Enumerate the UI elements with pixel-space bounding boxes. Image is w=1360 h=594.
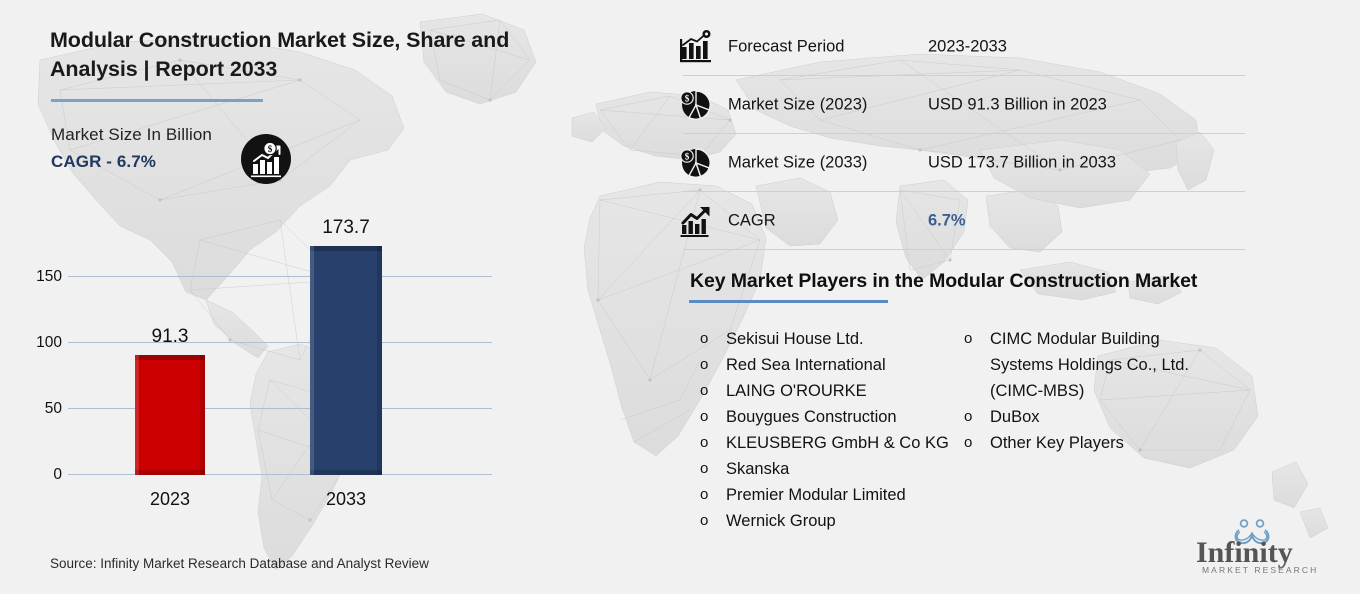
list-bullet: o [700,326,708,352]
gridline-150 [68,276,492,277]
stat-label: Forecast Period [728,38,844,57]
list-bullet: o [700,430,708,456]
list-item: o DuBox [952,404,1242,430]
list-item-label: KLEUSBERG GmbH & Co KG [726,434,949,452]
list-item-label: Red Sea International [726,356,886,374]
bar-bottom-shade [135,470,205,475]
bar-left-shade [310,246,314,475]
list-bullet: o [964,430,972,456]
bar-left-shade [135,355,139,475]
bar-category-2023: 2023 [100,489,240,510]
players-underline [689,300,888,303]
bar-category-2033: 2033 [276,489,416,510]
players-column-right: o CIMC Modular Building Systems Holdings… [952,326,1242,456]
list-item-label: LAING O'ROURKE [726,382,867,400]
list-item: o Sekisui House Ltd. [688,326,988,352]
list-item: o Red Sea International [688,352,988,378]
stat-value: 2023-2033 [928,38,1007,57]
pie-chart-dollar-icon: $ [678,87,714,123]
stat-divider [683,249,1245,250]
list-item: o Bouygues Construction [688,404,988,430]
pie-chart-dollar-icon: $ [678,145,714,181]
list-item-label: Bouygues Construction [726,408,897,426]
stat-label: CAGR [728,212,776,231]
bar-bottom-shade [310,470,382,475]
list-bullet: o [700,352,708,378]
list-item-continuation: Systems Holdings Co., Ltd. [952,352,1242,378]
gridline-0 [68,474,492,475]
list-bullet: o [700,456,708,482]
y-axis-tick-label: 150 [4,268,62,286]
bar-top-shade [310,246,382,251]
bar-right-shade [377,246,382,475]
list-item-label: Skanska [726,460,789,478]
list-bullet: o [700,404,708,430]
list-item: o LAING O'ROURKE [688,378,988,404]
list-item-label: CIMC Modular Building [990,330,1160,348]
logo-tagline: MARKET RESEARCH [1202,565,1318,575]
stat-value: USD 91.3 Billion in 2023 [928,96,1107,115]
y-axis-tick-label: 0 [4,466,62,484]
page-title: Modular Construction Market Size, Share … [50,26,550,83]
bar-2023[interactable] [135,355,205,475]
list-item-continuation: (CIMC-MBS) [952,378,1242,404]
list-item-label: DuBox [990,408,1040,426]
stat-row-market-size-2033: $ Market Size (2033) USD 173.7 Billion i… [660,134,1360,192]
growth-arrow-icon [678,203,714,239]
left-panel: Modular Construction Market Size, Share … [0,0,660,594]
players-column-left: o Sekisui House Ltd. o Red Sea Internati… [688,326,988,534]
list-item-label: Sekisui House Ltd. [726,330,864,348]
list-item-label: Wernick Group [726,512,836,530]
list-item-label: Premier Modular Limited [726,486,906,504]
players-heading: Key Market Players in the Modular Constr… [690,270,1197,293]
market-size-bar-chart: 150 100 50 0 91.3 2023 [0,200,560,530]
cagr-headline-label: CAGR - 6.7% [51,152,156,172]
bar-top-shade [135,355,205,360]
list-item-label: Systems Holdings Co., Ltd. [990,356,1189,374]
list-bullet: o [700,482,708,508]
list-item: o Other Key Players [952,430,1242,456]
stat-value: 6.7% [928,212,966,231]
right-panel: Forecast Period 2023-2033 $ Market Size … [660,0,1360,594]
stat-row-market-size-2023: $ Market Size (2023) USD 91.3 Billion in… [660,76,1360,134]
growth-dollar-chart-icon: $ [240,133,292,185]
list-bullet: o [964,326,972,352]
bar-2033[interactable] [310,246,382,475]
list-bullet: o [700,378,708,404]
svg-text:$: $ [268,144,273,154]
bar-chart-pin-icon [678,29,714,65]
list-item: o Wernick Group [688,508,988,534]
infographic-root: Modular Construction Market Size, Share … [0,0,1360,594]
list-item: o KLEUSBERG GmbH & Co KG [688,430,988,456]
market-size-unit-label: Market Size In Billion [51,125,212,145]
list-bullet: o [964,404,972,430]
y-axis-tick-label: 100 [4,334,62,352]
stat-row-forecast-period: Forecast Period 2023-2033 [660,18,1360,76]
bar-value-2033: 173.7 [286,217,406,239]
source-note: Source: Infinity Market Research Databas… [50,556,429,571]
y-axis-tick-label: 50 [4,400,62,418]
key-stats-table: Forecast Period 2023-2033 $ Market Size … [660,18,1360,250]
list-item: o CIMC Modular Building [952,326,1242,352]
list-item-label: (CIMC-MBS) [990,382,1084,400]
bar-value-2023: 91.3 [110,326,230,348]
title-underline [51,99,263,102]
svg-text:$: $ [685,152,690,162]
infinity-market-research-logo: Infinity MARKET RESEARCH [1192,516,1328,578]
bar-right-shade [200,355,205,475]
list-item: o Premier Modular Limited [688,482,988,508]
stat-value: USD 173.7 Billion in 2033 [928,154,1116,173]
list-item-label: Other Key Players [990,434,1124,452]
svg-text:$: $ [685,94,690,104]
stat-label: Market Size (2023) [728,96,867,115]
gridline-50 [68,408,492,409]
stat-label: Market Size (2033) [728,154,867,173]
stat-row-cagr: CAGR 6.7% [660,192,1360,250]
list-item: o Skanska [688,456,988,482]
list-bullet: o [700,508,708,534]
